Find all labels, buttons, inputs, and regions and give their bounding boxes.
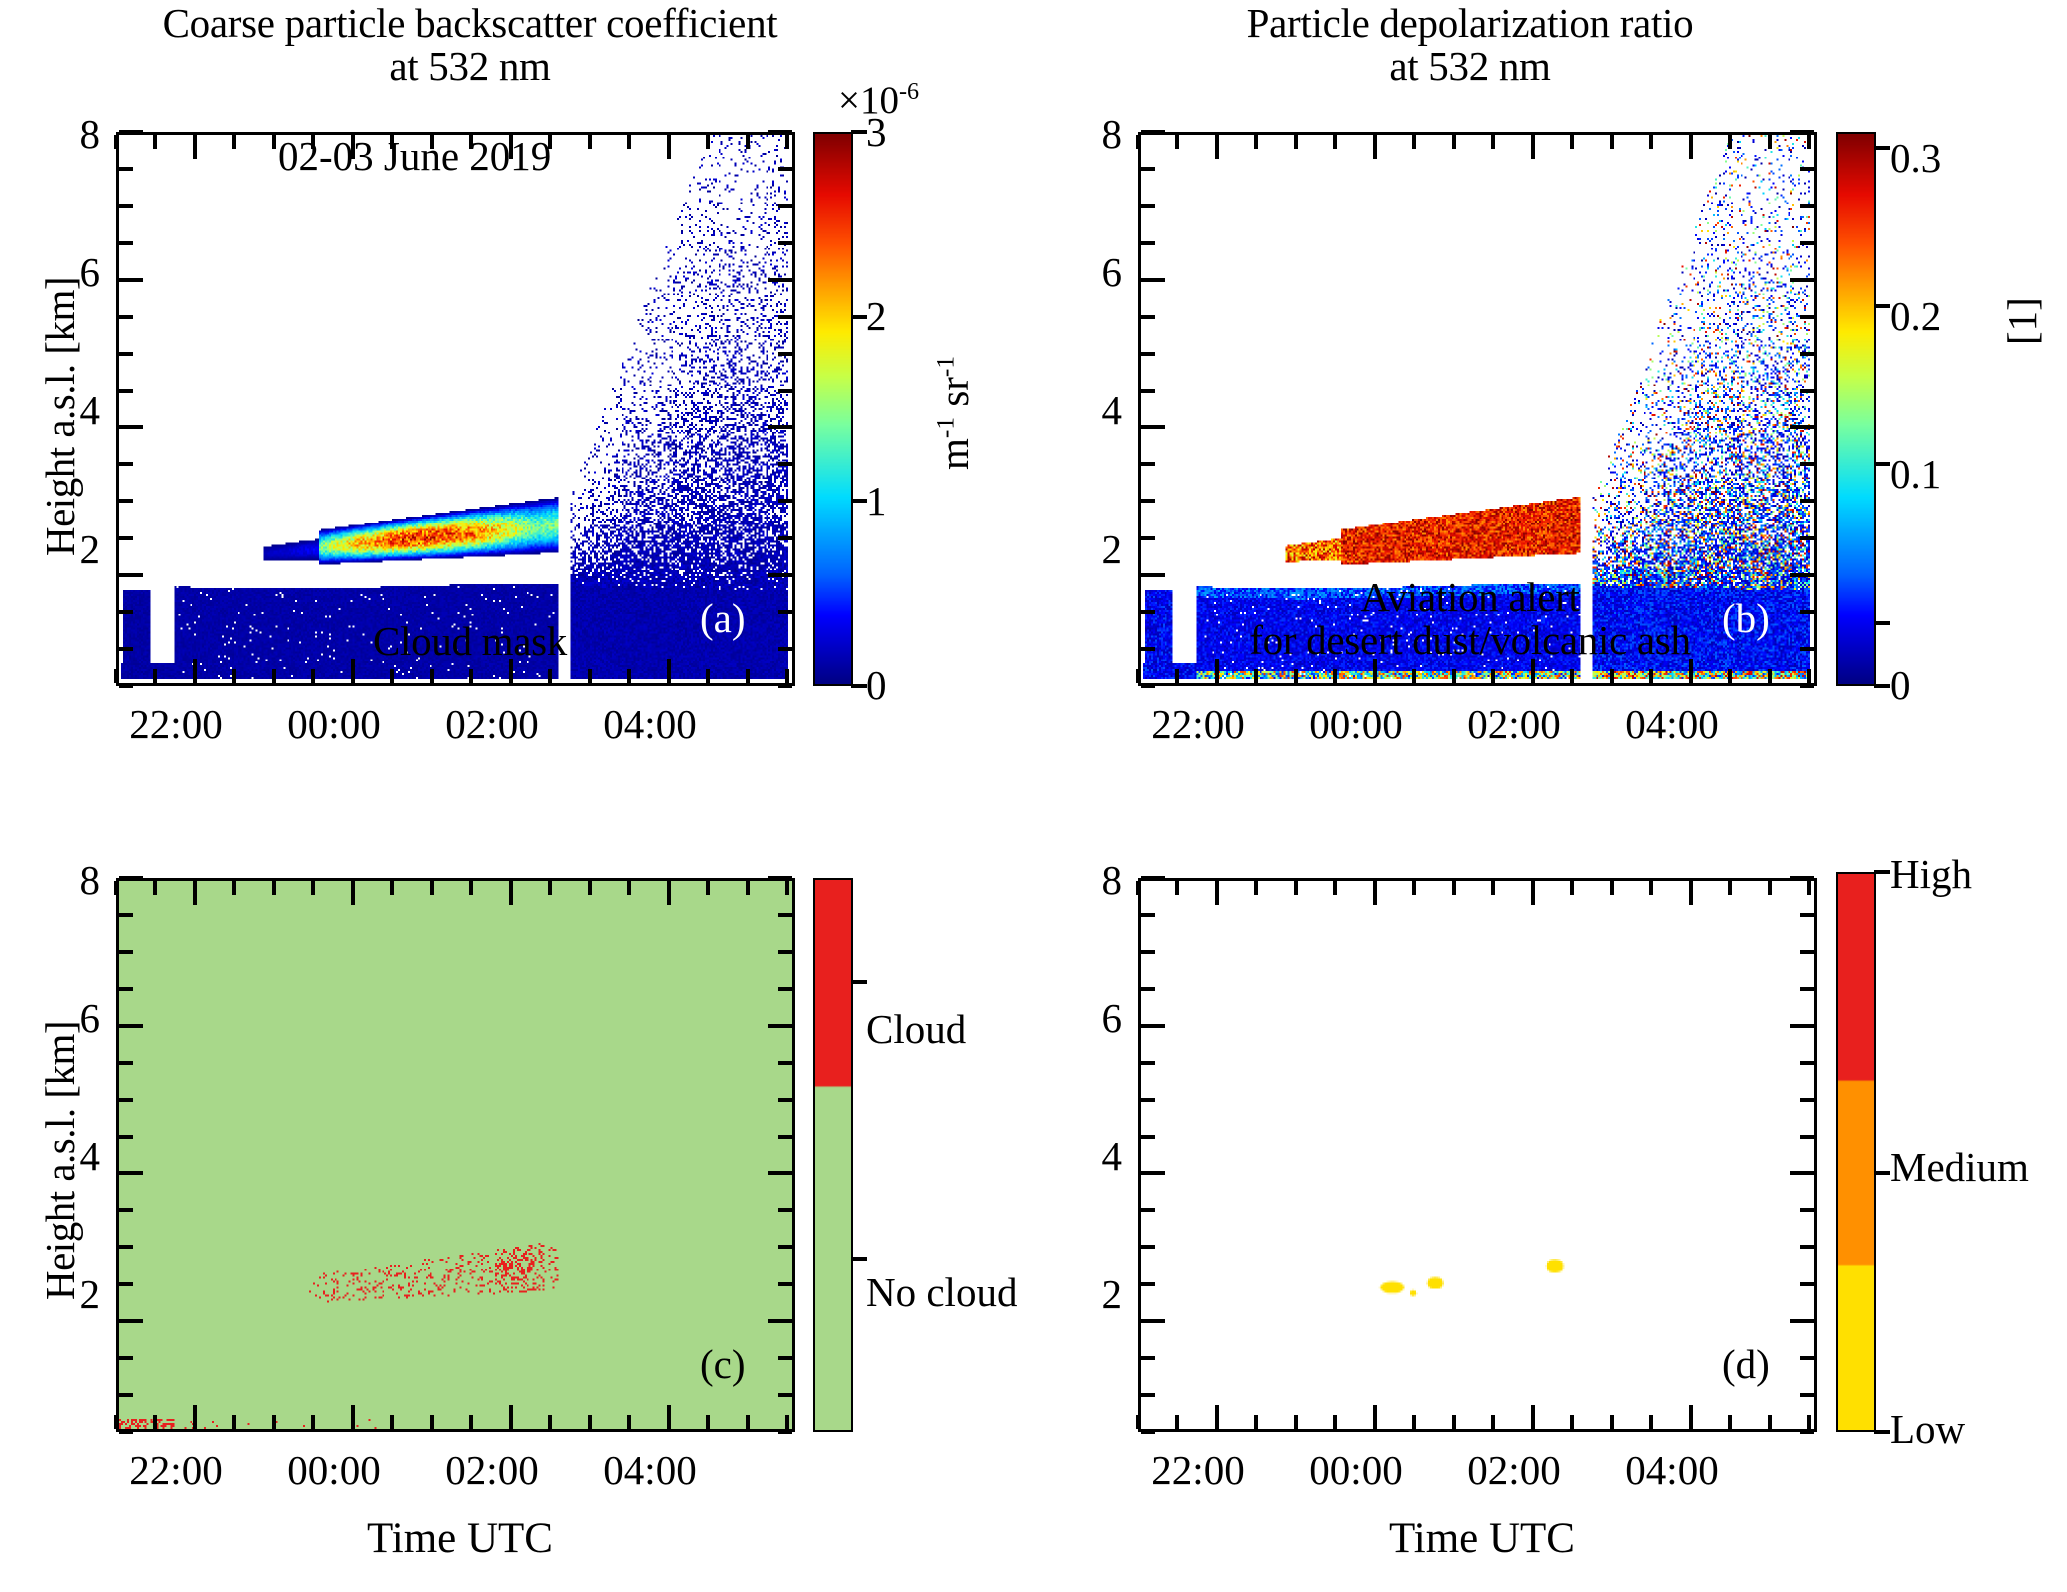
axis-tick	[430, 669, 434, 683]
axis-tick	[785, 881, 789, 895]
panel-d-xtick-0200: 02:00	[1424, 1446, 1604, 1494]
colorbar-tick	[1874, 1430, 1890, 1434]
axis-tick	[119, 987, 133, 991]
axis-tick	[588, 881, 592, 895]
panel-b-xtick-0400: 04:00	[1582, 700, 1762, 748]
colorbar-tick	[851, 1257, 867, 1261]
axis-tick	[272, 135, 276, 149]
axis-tick	[193, 881, 197, 905]
axis-tick	[119, 610, 133, 614]
axis-tick	[1800, 536, 1814, 540]
axis-tick	[778, 352, 792, 356]
axis-tick	[1689, 1405, 1693, 1429]
axis-tick	[1790, 1319, 1814, 1323]
axis-tick	[1452, 135, 1456, 149]
colorbar-tick	[851, 684, 867, 688]
axis-tick	[1141, 1356, 1155, 1360]
axis-tick	[1610, 135, 1614, 149]
axis-tick	[390, 881, 394, 895]
axis-tick	[1412, 881, 1416, 895]
panel-a-ytick-4: 4	[40, 386, 100, 434]
axis-tick	[778, 987, 792, 991]
axis-tick	[1807, 135, 1811, 149]
axis-tick	[778, 315, 792, 319]
axis-tick	[778, 167, 792, 171]
panel-b-cbtick-01: 0.1	[1890, 450, 1941, 498]
axis-tick	[272, 669, 276, 683]
axis-tick	[1800, 950, 1814, 954]
axis-tick	[1768, 1415, 1772, 1429]
panel-d-ytick-2: 2	[1062, 1270, 1122, 1318]
axis-tick	[1800, 499, 1814, 503]
panel-a-title-line2: at 532 nm	[0, 45, 940, 88]
axis-tick	[1728, 669, 1732, 683]
panel-c-cbtick-cloud: Cloud	[866, 1005, 966, 1053]
panel-b-cbtick-02: 0.2	[1890, 292, 1941, 340]
axis-tick	[469, 881, 473, 895]
axis-tick	[469, 669, 473, 683]
axis-tick	[1790, 1024, 1814, 1028]
figure-root: Coarse particle backscatter coefficient …	[0, 0, 2067, 1592]
axis-tick	[1531, 881, 1535, 905]
axis-tick	[778, 950, 792, 954]
axis-tick	[1215, 881, 1219, 905]
axis-tick	[768, 1024, 792, 1028]
axis-tick	[778, 1356, 792, 1360]
axis-tick	[1141, 425, 1165, 429]
axis-tick	[1790, 1171, 1814, 1175]
panel-a-cbtick-2: 2	[866, 292, 887, 340]
axis-tick	[153, 1415, 157, 1429]
axis-tick	[1333, 669, 1337, 683]
axis-tick	[1491, 1415, 1495, 1429]
axis-tick	[1412, 669, 1416, 683]
axis-tick	[351, 1405, 355, 1429]
axis-tick	[1141, 1171, 1165, 1175]
axis-tick	[1728, 135, 1732, 149]
axis-tick	[1294, 669, 1298, 683]
axis-tick	[778, 389, 792, 393]
axis-tick	[232, 669, 236, 683]
axis-tick	[119, 1430, 133, 1434]
axis-tick	[430, 881, 434, 895]
axis-tick	[778, 1430, 792, 1434]
axis-tick	[778, 536, 792, 540]
axis-tick	[1790, 278, 1814, 282]
axis-tick	[272, 881, 276, 895]
axis-tick	[588, 1415, 592, 1429]
panel-c-title: Cloud mask	[0, 620, 940, 663]
axis-tick	[119, 1208, 133, 1212]
axis-tick	[746, 881, 750, 895]
axis-tick	[1141, 987, 1155, 991]
axis-tick	[1175, 881, 1179, 895]
panel-d-ytick-8: 8	[1062, 856, 1122, 904]
axis-tick	[1800, 1356, 1814, 1360]
panel-b-title: Particle depolarization ratio at 532 nm	[1000, 2, 1940, 89]
axis-tick	[1254, 881, 1258, 895]
axis-tick	[1768, 881, 1772, 895]
axis-tick	[778, 241, 792, 245]
axis-tick	[232, 881, 236, 895]
panel-b-xtick-0200: 02:00	[1424, 700, 1604, 748]
axis-tick	[1800, 241, 1814, 245]
axis-tick	[1412, 1415, 1416, 1429]
axis-tick	[627, 881, 631, 895]
panel-a-title: Coarse particle backscatter coefficient …	[0, 2, 940, 89]
axis-tick	[768, 1319, 792, 1323]
axis-tick	[1800, 1430, 1814, 1434]
axis-tick	[1141, 1319, 1165, 1323]
panel-a-xtick-2200: 22:00	[86, 700, 266, 748]
axis-tick	[768, 130, 792, 134]
axis-tick	[1141, 684, 1155, 688]
axis-tick	[1141, 1024, 1165, 1028]
axis-tick	[667, 1405, 671, 1429]
axis-tick	[272, 1415, 276, 1429]
axis-tick	[1800, 352, 1814, 356]
axis-tick	[119, 1356, 133, 1360]
axis-tick	[1800, 1135, 1814, 1139]
axis-tick	[1136, 669, 1140, 683]
axis-tick	[1728, 1415, 1732, 1429]
axis-tick	[1141, 1245, 1155, 1249]
axis-tick	[119, 1319, 143, 1323]
panel-a-xtick-0200: 02:00	[402, 700, 582, 748]
axis-tick	[1141, 130, 1165, 134]
axis-tick	[119, 462, 133, 466]
panel-b-colorbar-label: [1]	[1998, 297, 2046, 345]
axis-tick	[1800, 987, 1814, 991]
panel-c-ytick-8: 8	[40, 856, 100, 904]
axis-tick	[119, 950, 133, 954]
axis-tick	[1800, 1393, 1814, 1397]
axis-tick	[1610, 881, 1614, 895]
axis-tick	[1570, 1415, 1574, 1429]
axis-tick	[1800, 684, 1814, 688]
axis-tick	[1800, 167, 1814, 171]
axis-tick	[627, 1415, 631, 1429]
axis-tick	[1141, 536, 1155, 540]
panel-a-cbtick-0: 0	[866, 661, 887, 709]
axis-tick	[1141, 1098, 1155, 1102]
axis-tick	[1800, 389, 1814, 393]
axis-tick	[1215, 135, 1219, 159]
axis-tick	[119, 1245, 133, 1249]
axis-tick	[430, 1415, 434, 1429]
panel-a-cbtick-3: 3	[866, 108, 887, 156]
axis-tick	[746, 669, 750, 683]
axis-tick	[1141, 876, 1165, 880]
axis-tick	[1412, 135, 1416, 149]
axis-tick	[785, 669, 789, 683]
axis-tick	[1141, 352, 1155, 356]
axis-tick	[1649, 669, 1653, 683]
axis-tick	[509, 1405, 513, 1429]
panel-a-colorbar-label: m-1 sr-1	[930, 356, 978, 470]
axis-tick	[153, 881, 157, 895]
axis-tick	[627, 135, 631, 149]
axis-tick	[153, 135, 157, 149]
colorbar-tick	[1874, 684, 1890, 688]
axis-tick	[1800, 1061, 1814, 1065]
axis-tick	[548, 669, 552, 683]
axis-tick	[778, 1061, 792, 1065]
panel-c-xtick-0000: 00:00	[244, 1446, 424, 1494]
axis-tick	[1141, 1282, 1155, 1286]
axis-tick	[778, 610, 792, 614]
axis-tick	[1254, 1415, 1258, 1429]
axis-tick	[785, 1415, 789, 1429]
panel-c-cbtick-nocloud: No cloud	[866, 1268, 1017, 1316]
axis-tick	[548, 881, 552, 895]
axis-tick	[1649, 881, 1653, 895]
panel-d-title-line1: Aviation alert	[1000, 576, 1940, 619]
axis-tick	[1294, 1415, 1298, 1429]
axis-tick	[746, 1415, 750, 1429]
axis-tick	[1800, 1282, 1814, 1286]
panel-d-cbtick-medium: Medium	[1890, 1143, 2029, 1191]
panel-c-ytick-4: 4	[40, 1132, 100, 1180]
axis-tick	[778, 462, 792, 466]
axis-tick	[1141, 462, 1155, 466]
axis-tick	[119, 1098, 133, 1102]
panel-a-ytick-8: 8	[40, 110, 100, 158]
axis-tick	[588, 135, 592, 149]
axis-tick	[768, 1171, 792, 1175]
panel-a-xtick-0000: 00:00	[244, 700, 424, 748]
axis-tick	[119, 425, 143, 429]
panel-d-xtick-2200: 22:00	[1108, 1446, 1288, 1494]
axis-tick	[778, 204, 792, 208]
axis-tick	[667, 881, 671, 905]
panel-b-xtick-0000: 00:00	[1266, 700, 1446, 748]
panel-b-cbtick-03: 0.3	[1890, 134, 1941, 182]
panel-b-title-line1: Particle depolarization ratio	[1000, 2, 1940, 45]
axis-tick	[1141, 389, 1155, 393]
axis-tick	[1215, 1405, 1219, 1429]
axis-tick	[1373, 1405, 1377, 1429]
axis-tick	[119, 1393, 133, 1397]
axis-tick	[114, 1415, 118, 1429]
panel-a-ytick-2: 2	[40, 525, 100, 573]
colorbar-a-exp-power: -6	[899, 78, 919, 105]
axis-tick	[778, 1135, 792, 1139]
panel-c-xlabel: Time UTC	[160, 1514, 760, 1563]
axis-tick	[1136, 135, 1140, 149]
panel-c-xtick-0200: 02:00	[402, 1446, 582, 1494]
colorbar-tick	[851, 980, 867, 984]
axis-tick	[311, 669, 315, 683]
axis-tick	[706, 669, 710, 683]
axis-tick	[785, 135, 789, 149]
axis-tick	[1649, 135, 1653, 149]
axis-tick	[768, 278, 792, 282]
axis-tick	[1531, 1405, 1535, 1429]
axis-tick	[1175, 135, 1179, 149]
axis-tick	[119, 204, 133, 208]
axis-tick	[1491, 135, 1495, 149]
axis-tick	[1800, 462, 1814, 466]
panel-b-ytick-8: 8	[1062, 110, 1122, 158]
colorbar-tick	[1874, 304, 1890, 308]
panel-a-colorbar[interactable]	[813, 132, 853, 686]
colorbar-tick	[851, 499, 867, 503]
panel-d-xtick-0000: 00:00	[1266, 1446, 1446, 1494]
axis-tick	[1790, 425, 1814, 429]
axis-tick	[1141, 241, 1155, 245]
axis-tick	[778, 1393, 792, 1397]
axis-tick	[1141, 315, 1155, 319]
panel-d-ytick-4: 4	[1062, 1132, 1122, 1180]
axis-tick	[768, 876, 792, 880]
panel-b-title-line2: at 532 nm	[1000, 45, 1940, 88]
axis-tick	[1141, 278, 1165, 282]
axis-tick	[1141, 950, 1155, 954]
axis-tick	[119, 876, 143, 880]
axis-tick	[311, 881, 315, 895]
axis-tick	[390, 669, 394, 683]
axis-tick	[114, 669, 118, 683]
panel-c-xtick-2200: 22:00	[86, 1446, 266, 1494]
panel-d-title-line2: for desert dust/volcanic ash	[1000, 619, 1940, 662]
axis-tick	[119, 573, 143, 577]
axis-tick	[1452, 881, 1456, 895]
axis-tick	[1333, 1415, 1337, 1429]
axis-tick	[1373, 881, 1377, 905]
axis-tick	[119, 167, 133, 171]
axis-tick	[778, 1245, 792, 1249]
axis-tick	[1531, 135, 1535, 159]
axis-tick	[119, 536, 133, 540]
axis-tick	[119, 1061, 133, 1065]
panel-d-plot[interactable]	[1138, 878, 1817, 1432]
axis-tick	[1141, 1135, 1155, 1139]
colorbar-tick	[1874, 870, 1890, 874]
axis-tick	[1800, 1208, 1814, 1212]
axis-tick	[232, 1415, 236, 1429]
axis-tick	[1141, 1061, 1155, 1065]
axis-tick	[1141, 1430, 1155, 1434]
axis-tick	[1800, 204, 1814, 208]
panel-d-title: Aviation alert for desert dust/volcanic …	[1000, 576, 1940, 663]
axis-tick	[706, 881, 710, 895]
axis-tick	[1141, 913, 1155, 917]
axis-tick	[1373, 135, 1377, 159]
panel-b-ytick-4: 4	[1062, 386, 1122, 434]
axis-tick	[193, 1405, 197, 1429]
axis-tick	[1141, 1208, 1155, 1212]
colorbar-tick	[1874, 462, 1890, 466]
axis-tick	[119, 684, 133, 688]
axis-tick	[768, 425, 792, 429]
axis-tick	[1728, 881, 1732, 895]
axis-tick	[778, 684, 792, 688]
axis-tick	[509, 881, 513, 905]
axis-tick	[1141, 499, 1155, 503]
axis-tick	[1610, 1415, 1614, 1429]
axis-tick	[1570, 135, 1574, 149]
axis-tick	[768, 573, 792, 577]
panel-a-annotation: 02-03 June 2019	[278, 132, 551, 180]
axis-tick	[1689, 881, 1693, 905]
axis-tick	[1689, 135, 1693, 159]
panel-a-title-line1: Coarse particle backscatter coefficient	[0, 2, 940, 45]
axis-tick	[1294, 881, 1298, 895]
axis-tick	[153, 669, 157, 683]
axis-tick	[119, 1282, 133, 1286]
axis-tick	[1649, 1415, 1653, 1429]
axis-tick	[1141, 167, 1155, 171]
axis-tick	[1807, 669, 1811, 683]
axis-tick	[1136, 1415, 1140, 1429]
axis-tick	[390, 1415, 394, 1429]
axis-tick	[1790, 876, 1814, 880]
panel-a-xtick-0400: 04:00	[560, 700, 740, 748]
panel-c-xtick-0400: 04:00	[560, 1446, 740, 1494]
panel-d-label: (d)	[1722, 1340, 1770, 1388]
axis-tick	[1254, 669, 1258, 683]
axis-tick	[706, 135, 710, 149]
panel-c-ytick-2: 2	[40, 1270, 100, 1318]
axis-tick	[1175, 1415, 1179, 1429]
axis-tick	[746, 135, 750, 149]
colorbar-tick	[851, 315, 867, 319]
axis-tick	[1800, 315, 1814, 319]
axis-tick	[1333, 135, 1337, 149]
panel-c-colorbar[interactable]	[813, 878, 853, 1432]
colorbar-tick	[1874, 146, 1890, 150]
axis-tick	[1136, 881, 1140, 895]
panel-b-xtick-2200: 22:00	[1108, 700, 1288, 748]
axis-tick	[311, 1415, 315, 1429]
axis-tick	[778, 499, 792, 503]
axis-tick	[1807, 1415, 1811, 1429]
axis-tick	[114, 135, 118, 149]
panel-c-label: (c)	[700, 1340, 746, 1388]
axis-tick	[667, 135, 671, 159]
axis-tick	[119, 130, 143, 134]
axis-tick	[193, 135, 197, 159]
panel-a-ytick-6: 6	[40, 248, 100, 296]
axis-tick	[119, 913, 133, 917]
axis-tick	[119, 315, 133, 319]
panel-b-ytick-6: 6	[1062, 248, 1122, 296]
axis-tick	[232, 135, 236, 149]
panel-d-ytick-6: 6	[1062, 994, 1122, 1042]
axis-tick	[1800, 1098, 1814, 1102]
axis-tick	[778, 1282, 792, 1286]
axis-tick	[119, 1171, 143, 1175]
panel-d-cbtick-high: High	[1890, 850, 1972, 898]
axis-tick	[588, 669, 592, 683]
panel-d-colorbar[interactable]	[1836, 872, 1876, 1432]
panel-c-plot[interactable]	[116, 878, 795, 1432]
axis-tick	[548, 1415, 552, 1429]
axis-tick	[1452, 1415, 1456, 1429]
panel-a-cbtick-1: 1	[866, 477, 887, 525]
panel-a-plot[interactable]	[116, 132, 795, 686]
colorbar-tick	[1874, 1171, 1890, 1175]
panel-c-title-line2: Cloud mask	[0, 620, 940, 663]
axis-tick	[1491, 669, 1495, 683]
axis-tick	[351, 881, 355, 905]
axis-tick	[469, 1415, 473, 1429]
panel-c-ytick-6: 6	[40, 994, 100, 1042]
axis-tick	[778, 913, 792, 917]
axis-tick	[1254, 135, 1258, 149]
axis-tick	[1141, 1393, 1155, 1397]
